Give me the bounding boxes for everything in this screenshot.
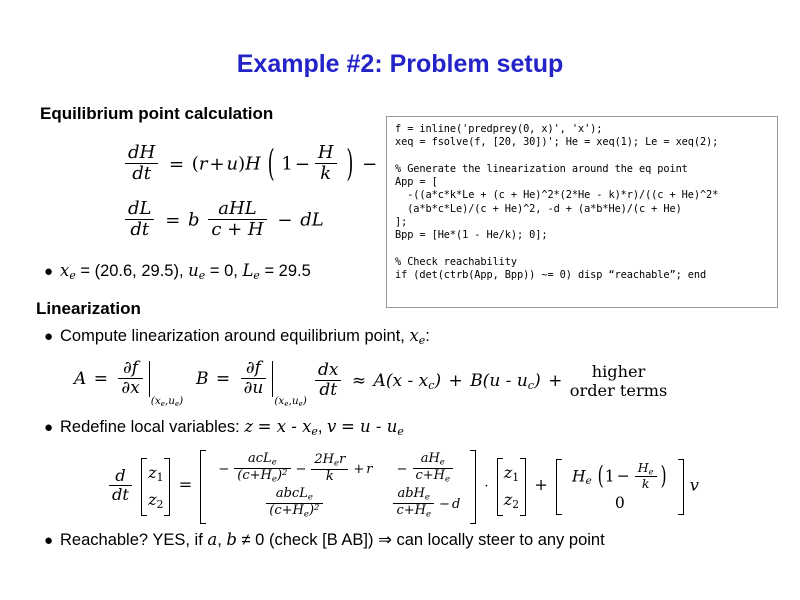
ue-equals: = <box>210 262 220 280</box>
a11-num: acL <box>248 451 272 466</box>
a11-den2: k <box>311 469 348 485</box>
eq-dh-den: dt <box>125 163 158 184</box>
matrix-B-entries: He (1−Hek) 0 <box>556 459 684 515</box>
b1-num: H <box>638 460 649 475</box>
reachable-rest: ≠ 0 (check [B AB]) ⇒ can locally steer t… <box>242 531 605 549</box>
a22-den-sub: e <box>426 509 431 519</box>
equation-matrix-B: B = ∂f∂u(xe,ue) <box>196 360 308 399</box>
bullet-equilibrium-values-text: xe = (20.6, 29.5), ue = 0, Le = 29.5 <box>60 261 311 282</box>
ss-z1: z <box>148 463 157 482</box>
a21-num-sub: e <box>308 492 313 502</box>
xe-equals: = <box>80 262 90 280</box>
matrix-A-entries: −acLe(c+He)2−2Herk+r −aHec+He abcLe(c+He… <box>200 450 476 524</box>
a22-minus-d: d <box>452 497 460 512</box>
b1-one: 1 <box>605 467 615 485</box>
ss-d: d <box>109 467 132 485</box>
equation-state-space: ddt z1 z2 = −acLe(c+He)2−2Herk+r −aHec+H… <box>106 450 699 524</box>
ss-z2: z <box>148 490 157 509</box>
dxdt-num: dx <box>315 361 341 380</box>
B-den: ∂u <box>241 378 267 398</box>
page-title: Example #2: Problem setup <box>0 50 800 79</box>
code-block: f = inline('predprey(0, x)', 'x'); xeq =… <box>386 116 778 308</box>
Le-value: 29.5 <box>279 262 311 280</box>
ss-z1-right: z <box>504 463 513 482</box>
eq-dl-aHL: aHL <box>208 199 266 219</box>
ss-z2-right-sub: 2 <box>512 498 519 511</box>
A-equals: = <box>92 369 110 389</box>
dxdt-termA-end: ) <box>434 371 441 391</box>
b1-He: H <box>572 467 586 485</box>
B-symbol: B <box>196 369 209 389</box>
eq-dh-num: dH <box>125 143 158 163</box>
a12-num: aH <box>421 451 440 466</box>
matrix-B-b2: 0 <box>563 493 677 513</box>
redefine-eq1: = x - x <box>258 417 312 436</box>
reachable-question: Reachable? YES, if <box>60 531 207 549</box>
a11-den: (c+H <box>237 468 272 483</box>
eq-dl-b: b <box>188 210 200 231</box>
bullet-redefine-text: Redefine local variables: z = x - xe, v … <box>60 417 404 438</box>
redefine-comma: , <box>318 418 327 436</box>
eq-dl-cH: c + H <box>208 219 266 240</box>
dxdt-approx: ≈ <box>350 371 368 391</box>
ss-z2-right: z <box>504 490 513 509</box>
equation-matrix-A: A = ∂f∂x(xe,ue) <box>74 360 184 399</box>
bullet-reachable: ● Reachable? YES, if a, b ≠ 0 (check [B … <box>44 530 605 550</box>
state-vector-z-right: z1 z2 <box>497 458 526 515</box>
a12-num-sub: e <box>440 457 445 467</box>
matrix-A-a12: −aHec+He <box>381 452 469 487</box>
reachable-comma: , <box>217 531 226 549</box>
dxdt-den: dt <box>315 380 341 400</box>
A-eval-bar <box>149 361 150 397</box>
eq-dl-den: dt <box>125 219 154 240</box>
dxdt-higher: higher <box>570 363 668 382</box>
B-num: ∂f <box>241 359 267 378</box>
Le-subscript: e <box>253 269 259 282</box>
ue-value: 0 <box>224 262 233 280</box>
bullet-redefine-variables: ● Redefine local variables: z = x - xe, … <box>44 417 404 438</box>
A-num: ∂f <box>118 359 142 378</box>
b1-den: k <box>635 476 657 491</box>
xe-value: (20.6, 29.5) <box>95 262 179 280</box>
section-header-equilibrium: Equilibrium point calculation <box>40 104 273 124</box>
a21-num: abcL <box>276 486 308 501</box>
equation-dl-dt: dLdt = b aHLc + H − dL <box>122 200 324 241</box>
dxdt-termB-end: ) <box>534 371 541 391</box>
a21-den: (c+H <box>269 503 304 518</box>
a22-num-sub: e <box>425 492 430 502</box>
ss-input-v: v <box>690 475 699 494</box>
b2-zero: 0 <box>615 494 625 512</box>
a11-num-sub: e <box>272 457 277 467</box>
a11-num2-r: r <box>339 452 345 467</box>
redefine-z: z <box>244 417 253 436</box>
a21-den-sub: e <box>304 509 309 519</box>
B-eval-bar <box>272 361 273 397</box>
compute-label: Compute linearization around equilibrium… <box>60 327 409 345</box>
section-header-linearization: Linearization <box>36 299 141 319</box>
Le-equals: = <box>264 262 274 280</box>
dxdt-termB: B(u - u <box>470 371 528 391</box>
bullet-dot-icon: ● <box>44 329 60 344</box>
bullet-dot-icon: ● <box>44 264 60 279</box>
compute-colon: : <box>425 327 430 345</box>
a12-den: c+H <box>416 468 446 483</box>
redefine-sub-e2: e <box>397 425 403 438</box>
code-block-content: f = inline('predprey(0, x)', 'x'); xeq =… <box>395 123 771 283</box>
a22-den: c+H <box>396 503 426 518</box>
matrix-B-b1: He (1−Hek) <box>563 461 677 493</box>
matrix-A-a21: abcLe(c+He)2 <box>207 487 381 522</box>
xe-subscript: e <box>69 269 75 282</box>
matrix-A-a11: −acLe(c+He)2−2Herk+r <box>207 452 381 487</box>
xe-symbol: x <box>60 261 69 280</box>
dxdt-plus-2: + <box>546 371 564 391</box>
a11-den-pow: 2 <box>282 468 287 478</box>
bullet-compute-linearization: ● Compute linearization around equilibri… <box>44 326 430 347</box>
a12-den-sub: e <box>445 474 450 484</box>
ue-comma: , <box>233 262 238 280</box>
redefine-label: Redefine local variables: <box>60 418 244 436</box>
eq-dh-Hnum: H <box>315 143 337 163</box>
ss-dt: dt <box>109 485 132 504</box>
state-vector-z: z1 z2 <box>141 458 170 515</box>
bullet-equilibrium-values: ● xe = (20.6, 29.5), ue = 0, Le = 29.5 <box>44 261 311 282</box>
reachable-b: b <box>226 530 237 549</box>
dxdt-order-terms: order terms <box>570 382 668 401</box>
bullet-dot-icon: ● <box>44 420 60 435</box>
eq-dh-one: 1 <box>281 154 292 175</box>
ss-dot: · <box>482 479 490 494</box>
matrix-A-a22: abHec+He−d <box>381 487 469 522</box>
B-eval-subscript: (xe,ue) <box>274 395 307 408</box>
A-den: ∂x <box>118 378 142 398</box>
B-equals: = <box>214 369 232 389</box>
a21-den-pow: 2 <box>314 503 319 513</box>
ue-subscript: e <box>199 269 205 282</box>
ue-symbol: u <box>188 261 199 280</box>
A-symbol: A <box>74 369 86 389</box>
reachable-a: a <box>207 530 217 549</box>
a11-plus-r: r <box>366 462 372 477</box>
redefine-eq2: = u - u <box>341 417 397 436</box>
b1-num-sub: e <box>649 466 654 476</box>
bullet-reachable-text: Reachable? YES, if a, b ≠ 0 (check [B AB… <box>60 530 605 550</box>
eq-dl-dL: dL <box>300 210 323 231</box>
dxdt-termA: A(x - x <box>374 371 429 391</box>
Le-symbol: L <box>242 261 253 280</box>
eq-dh-kden: k <box>315 163 337 184</box>
equation-dx-dt-approx: dxdt ≈ A(x - xc) + B(u - uc) + higher or… <box>312 362 667 401</box>
eq-dh-H: H <box>245 154 261 175</box>
bullet-dot-icon: ● <box>44 533 60 548</box>
dxdt-plus-1: + <box>447 371 465 391</box>
a11-den-sub: e <box>272 474 277 484</box>
redefine-v: v <box>327 417 336 436</box>
compute-var: x <box>409 326 418 345</box>
eq-dl-num: dL <box>125 199 154 219</box>
ss-z1-sub: 1 <box>157 471 164 484</box>
xe-comma: , <box>179 262 184 280</box>
eq-dh-u: u <box>227 154 239 175</box>
ss-equals: = <box>177 475 195 494</box>
slide: Example #2: Problem setup Equilibrium po… <box>0 0 800 600</box>
ss-z2-sub: 2 <box>157 498 164 511</box>
a11-num2: 2H <box>314 452 334 467</box>
bullet-compute-text: Compute linearization around equilibrium… <box>60 326 430 347</box>
a22-num: abH <box>397 486 424 501</box>
A-eval-subscript: (xe,ue) <box>151 395 184 408</box>
b1-He-sub: e <box>586 475 592 487</box>
ss-z1-right-sub: 1 <box>512 471 519 484</box>
